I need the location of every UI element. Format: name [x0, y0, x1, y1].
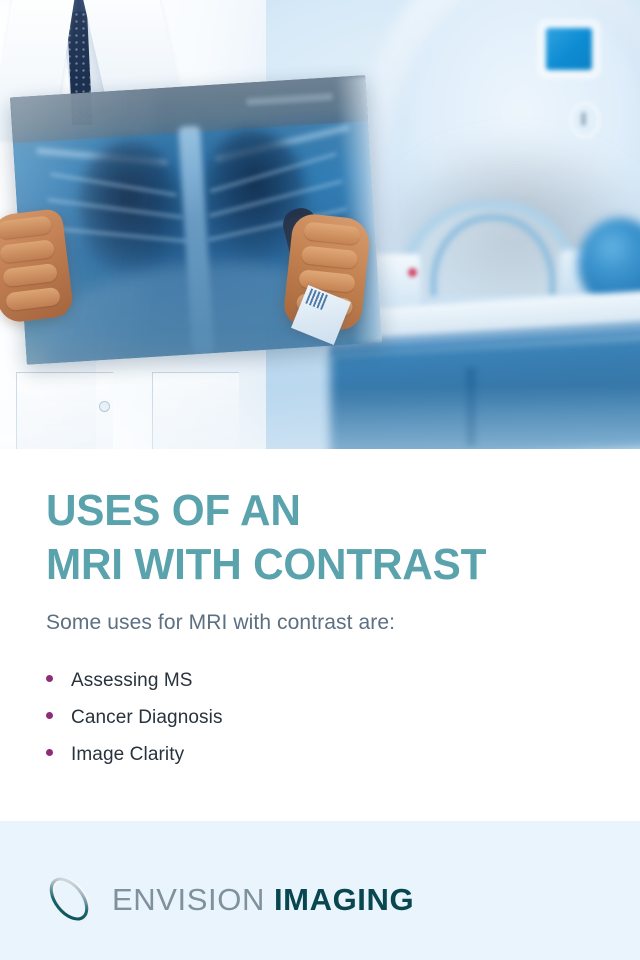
- subheading: Some uses for MRI with contrast are:: [46, 609, 395, 636]
- envision-oval-ring-icon: [40, 870, 98, 928]
- list-item-label: Cancer Diagnosis: [71, 708, 223, 729]
- uses-list: Assessing MS Cancer Diagnosis Image Clar…: [46, 671, 223, 782]
- hero-scene: [0, 0, 640, 449]
- brand-name-secondary: IMAGING: [274, 882, 414, 917]
- mri-contrast-infographic: USES OF AN MRI WITH CONTRAST Some uses f…: [0, 0, 640, 960]
- brand-logo[interactable]: ENVISIONIMAGING: [40, 870, 414, 928]
- list-item-label: Assessing MS: [71, 671, 193, 692]
- page-title-line-2: MRI WITH CONTRAST: [46, 538, 584, 592]
- brand-wordmark: ENVISIONIMAGING: [112, 884, 414, 915]
- list-item: Image Clarity: [46, 745, 223, 766]
- bullet-dot-icon: [46, 749, 53, 756]
- list-item: Assessing MS: [46, 671, 223, 692]
- hero-bottom-fade: [0, 0, 640, 449]
- page-title: USES OF AN MRI WITH CONTRAST: [46, 484, 584, 592]
- page-title-line-1: USES OF AN: [46, 484, 584, 538]
- brand-name-primary: ENVISION: [112, 882, 265, 917]
- bullet-dot-icon: [46, 712, 53, 719]
- content-section: USES OF AN MRI WITH CONTRAST Some uses f…: [0, 449, 640, 821]
- hero-photo: [0, 0, 640, 449]
- footer-band: ENVISIONIMAGING: [0, 821, 640, 960]
- list-item-label: Image Clarity: [71, 745, 184, 766]
- list-item: Cancer Diagnosis: [46, 708, 223, 729]
- bullet-dot-icon: [46, 675, 53, 682]
